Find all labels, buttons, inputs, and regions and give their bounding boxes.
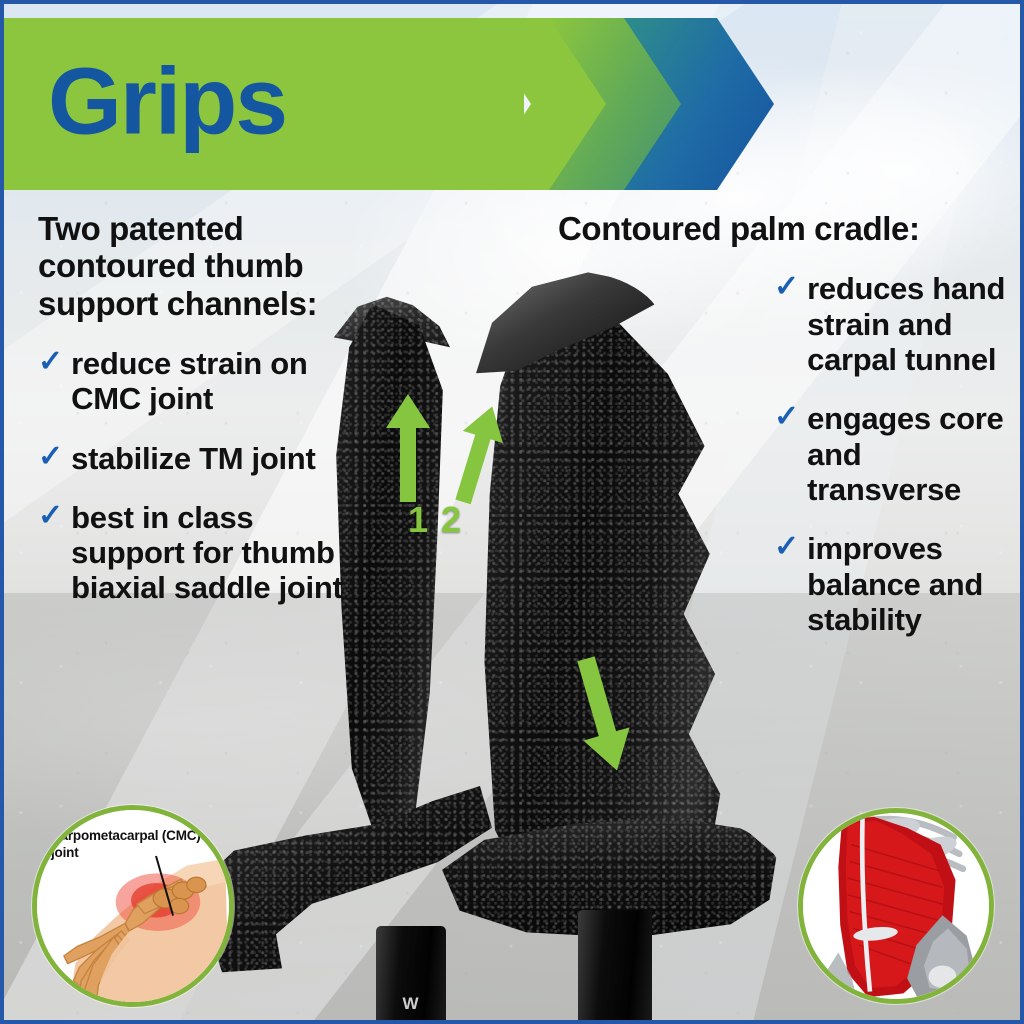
list-item: ✓ reduces hand strain and carpal tunnel [774,271,1022,377]
bullet-label: improves balance and stability [807,531,1022,637]
right-column-heading: Contoured palm cradle: [552,210,1022,247]
list-item: ✓ improves balance and stability [774,531,1022,637]
core-muscle-inset [798,808,994,1004]
trekking-pole-shaft-right [578,910,652,1020]
list-item: ✓ stabilize TM joint [38,441,368,476]
bullet-label: stabilize TM joint [71,441,315,476]
left-column-heading: Two patented contoured thumb support cha… [38,210,368,322]
arrow-label-2: 2 [441,499,461,541]
left-text-column: Two patented contoured thumb support cha… [38,210,368,606]
bullet-label: engages core and transverse [807,401,1022,507]
header-banner: Grips [4,18,684,190]
cmc-inset-label: Carpometacarpal (CMC) joint [51,828,229,862]
up-arrow-channel-1-icon [386,394,430,502]
check-icon: ✓ [774,531,799,563]
bullet-label: best in class support for thumb biaxial … [71,500,368,606]
check-icon: ✓ [774,401,799,433]
check-icon: ✓ [774,271,799,303]
list-item: ✓ engages core and transverse [774,401,1022,507]
list-item: ✓ best in class support for thumb biaxia… [38,500,368,606]
right-bullet-list: ✓ reduces hand strain and carpal tunnel … [774,271,1022,637]
bullet-label: reduces hand strain and carpal tunnel [807,271,1022,377]
grips-infographic: W 1 2 Two patented contoured thumb suppo… [0,0,1024,1024]
check-icon: ✓ [38,346,63,378]
core-anatomy-illustration [803,813,989,999]
pole-left-branding: W [376,994,446,1014]
list-item: ✓ reduce strain on CMC joint [38,346,368,417]
arrow-label-1: 1 [408,499,428,541]
right-text-column: Contoured palm cradle: ✓ reduces hand st… [552,210,1022,637]
check-icon: ✓ [38,500,63,532]
trekking-pole-shaft-left: W [376,926,446,1020]
page-title: Grips [48,55,286,150]
bullet-label: reduce strain on CMC joint [71,346,368,417]
left-bullet-list: ✓ reduce strain on CMC joint ✓ stabilize… [38,346,368,606]
check-icon: ✓ [38,441,63,473]
cmc-joint-inset: Carpometacarpal (CMC) joint [32,805,234,1007]
